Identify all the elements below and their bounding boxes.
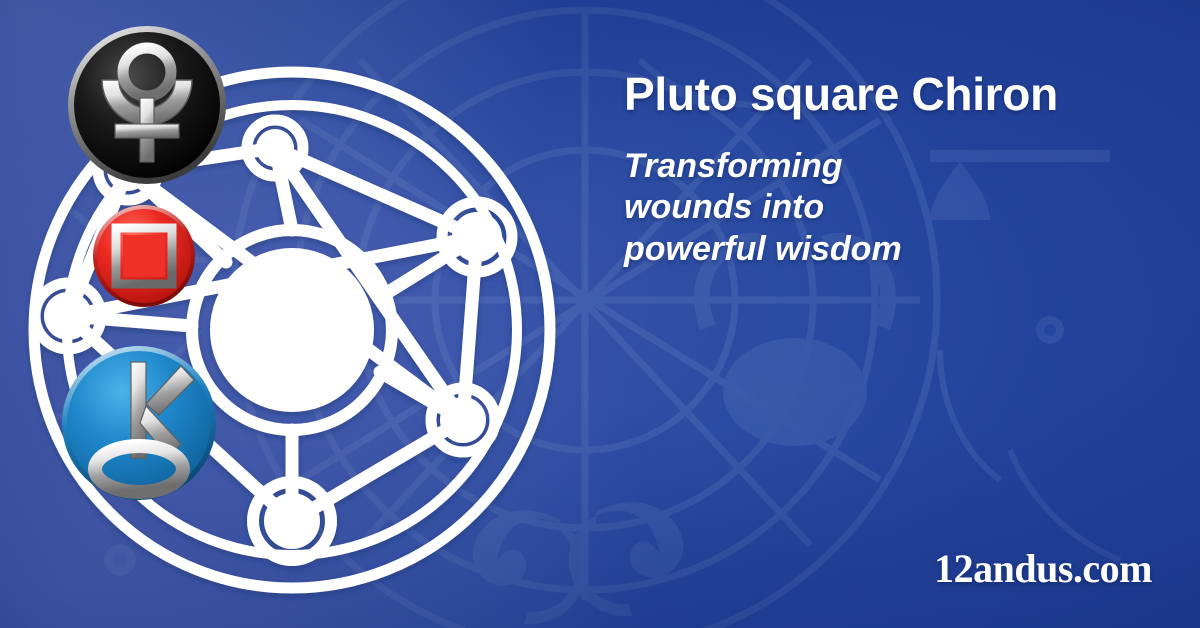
center-node	[210, 248, 374, 412]
brand-logo[interactable]: 12andus.com	[934, 545, 1152, 592]
badge-square-aspect[interactable]	[92, 204, 196, 308]
badge-pluto[interactable]	[66, 24, 228, 186]
page-title: Pluto square Chiron	[624, 70, 1184, 120]
badge-chiron[interactable]	[60, 344, 218, 502]
node-bottom	[253, 482, 331, 560]
page-subtitle: Transforming wounds into powerful wisdom	[624, 146, 974, 270]
text-block: Pluto square Chiron Transforming wounds …	[624, 70, 1184, 270]
square-aspect-icon	[92, 204, 196, 308]
chiron-glyph-icon	[60, 344, 218, 502]
node-upper-right	[442, 202, 512, 272]
social-card: Pluto square Chiron Transforming wounds …	[0, 0, 1200, 628]
pluto-glyph-icon	[66, 24, 228, 186]
node-lower-right	[431, 388, 495, 452]
